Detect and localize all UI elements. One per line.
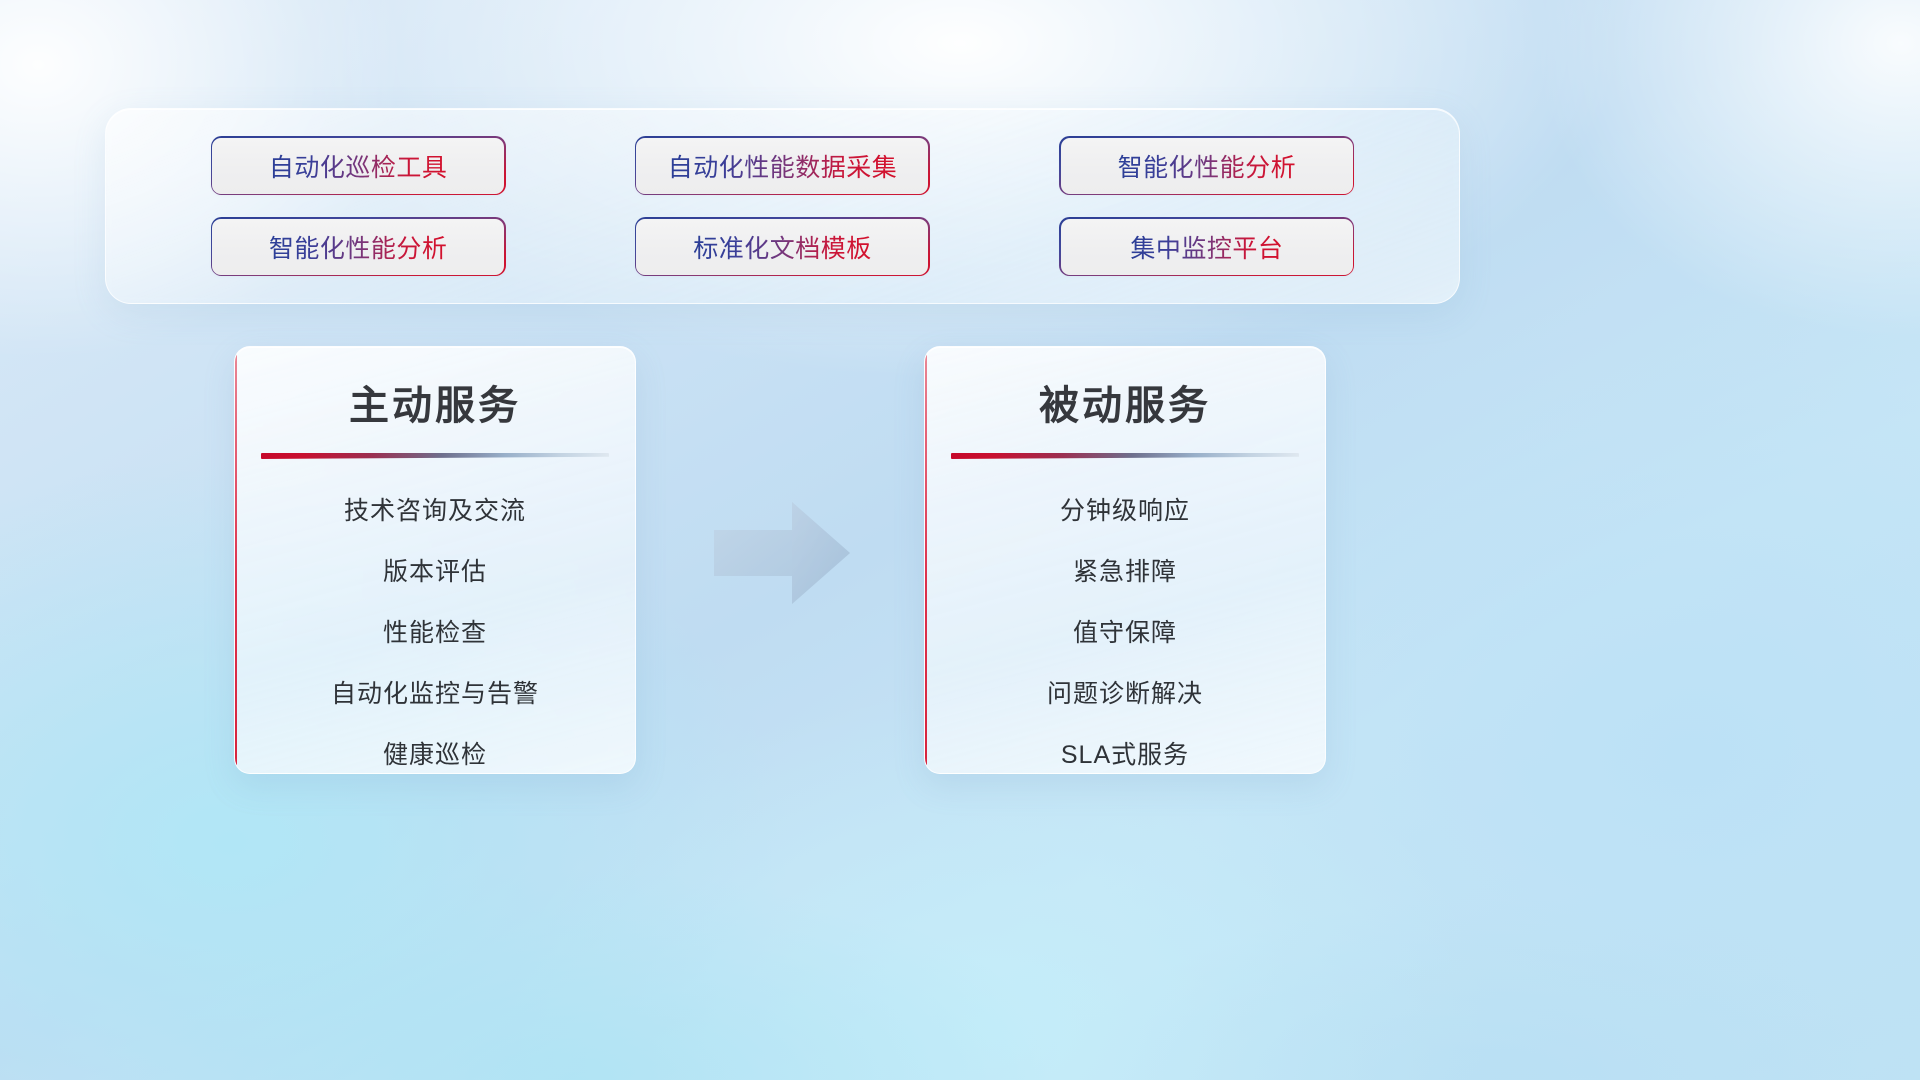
capability-pill-grid: 自动化巡检工具 自动化性能数据采集 智能化性能分析 智能化性能分析 标准化文档模… (106, 109, 1459, 303)
infographic-canvas: 自动化巡检工具 自动化性能数据采集 智能化性能分析 智能化性能分析 标准化文档模… (0, 0, 1920, 1080)
capability-pill-4[interactable]: 智能化性能分析 (212, 219, 504, 275)
service-card-passive: 被动服务 分钟级响应 紧急排障 值守保障 问题诊断解决 SLA式服务 (924, 346, 1326, 774)
card-title-divider (261, 453, 609, 459)
card-item-list: 分钟级响应 紧急排障 值守保障 问题诊断解决 SLA式服务 (925, 491, 1325, 771)
service-card-active: 主动服务 技术咨询及交流 版本评估 性能检查 自动化监控与告警 健康巡检 (234, 346, 636, 774)
card-item: 技术咨询及交流 (344, 491, 526, 527)
card-title: 主动服务 (235, 373, 635, 431)
card-item: 问题诊断解决 (1047, 674, 1203, 710)
card-item: SLA式服务 (1061, 735, 1189, 771)
capability-pill-label: 集中监控平台 (1130, 229, 1283, 265)
arrow-right-icon (712, 498, 852, 608)
capability-pill-5[interactable]: 标准化文档模板 (636, 219, 928, 275)
capability-pill-label: 自动化性能数据采集 (668, 148, 898, 184)
capability-pill-2[interactable]: 自动化性能数据采集 (636, 138, 928, 194)
card-item: 分钟级响应 (1060, 491, 1190, 527)
card-item-list: 技术咨询及交流 版本评估 性能检查 自动化监控与告警 健康巡检 (235, 491, 635, 771)
card-item: 值守保障 (1073, 613, 1177, 649)
card-title: 被动服务 (925, 373, 1325, 431)
capability-pill-1[interactable]: 自动化巡检工具 (212, 138, 504, 194)
capability-pill-label: 标准化文档模板 (693, 229, 872, 265)
card-item: 健康巡检 (383, 735, 487, 771)
capability-panel: 自动化巡检工具 自动化性能数据采集 智能化性能分析 智能化性能分析 标准化文档模… (105, 108, 1460, 304)
capability-pill-3[interactable]: 智能化性能分析 (1061, 138, 1353, 194)
capability-pill-label: 智能化性能分析 (269, 229, 448, 265)
card-item: 紧急排障 (1073, 552, 1177, 588)
capability-pill-label: 智能化性能分析 (1118, 148, 1297, 184)
card-item: 自动化监控与告警 (331, 674, 539, 710)
card-item: 性能检查 (383, 613, 487, 649)
card-item: 版本评估 (383, 552, 487, 588)
capability-pill-label: 自动化巡检工具 (269, 148, 448, 184)
capability-pill-6[interactable]: 集中监控平台 (1061, 219, 1353, 275)
card-title-divider (951, 453, 1299, 459)
